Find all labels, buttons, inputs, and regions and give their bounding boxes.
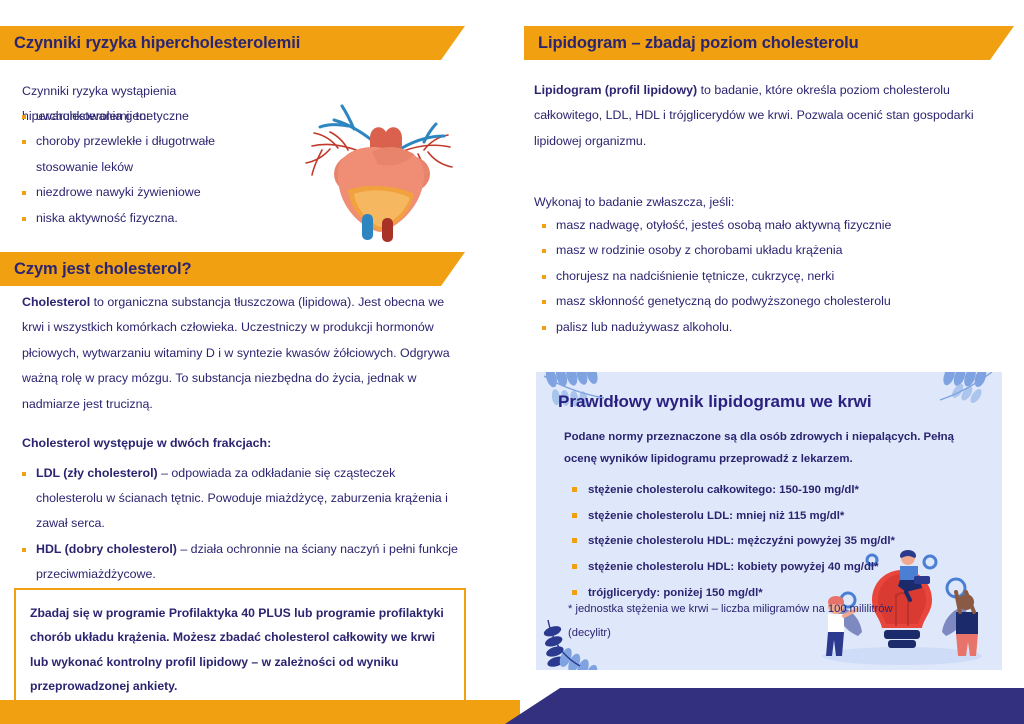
lipidogram-title: Lipidogram – zbadaj poziom cholesterolu [538, 34, 859, 53]
bottom-decorative-band [0, 688, 1024, 724]
norms-list: stężenie cholesterolu całkowitego: 150-1… [568, 478, 988, 606]
hdl-label: HDL (dobry cholesterol) [36, 542, 177, 556]
ldl-label: LDL (zły cholesterol) [36, 466, 158, 480]
cholesterol-definition-paragraph: Cholesterol to organiczna substancja tłu… [22, 290, 462, 417]
risk-factors-title: Czynniki ryzyka hipercholesterolemii [14, 34, 300, 53]
list-item: niska aktywność fizyczna. [14, 206, 276, 231]
risk-factors-list: uwarunkowania genetyczne choroby przewle… [14, 104, 276, 231]
cholesterol-definition-text: to organiczna substancja tłuszczowa (lip… [22, 295, 450, 411]
left-column: Czynniki ryzyka hipercholesterolemii Czy… [0, 0, 500, 700]
list-item: masz w rodzinie osoby z chorobami układu… [534, 238, 1014, 263]
results-panel-title: Prawidłowy wynik lipidogramu we krwi [558, 392, 872, 412]
what-is-cholesterol-title: Czym jest cholesterol? [14, 260, 192, 279]
unit-footnote: * jednostka stężenia we krwi – liczba mi… [568, 598, 898, 645]
list-item: niezdrowe nawyki żywieniowe [14, 180, 276, 205]
band-orange-segment [0, 700, 520, 724]
infographic-page: Czynniki ryzyka hipercholesterolemii Czy… [0, 0, 1024, 724]
list-item: masz skłonność genetyczną do podwyższone… [534, 289, 1014, 314]
fractions-list: LDL (zły cholesterol) – odpowiada za odk… [14, 461, 462, 588]
lipidogram-intro-paragraph: Lipidogram (profil lipidowy) to badanie,… [534, 78, 1004, 154]
normal-results-panel: Prawidłowy wynik lipidogramu we krwi Pod… [536, 372, 1002, 670]
lipidogram-banner: Lipidogram – zbadaj poziom cholesterolu [524, 26, 1014, 60]
list-item: masz nadwagę, otyłość, jesteś osobą mało… [534, 213, 1014, 238]
list-item: palisz lub nadużywasz alkoholu. [534, 315, 1014, 340]
list-item: choroby przewlekłe i długotrwałe stosowa… [14, 129, 276, 180]
fern-leaf-decoration-top-right [896, 372, 1002, 430]
list-item-hdl: HDL (dobry cholesterol) – działa ochronn… [14, 537, 462, 588]
list-item: stężenie cholesterolu HDL: mężczyźni pow… [568, 529, 988, 555]
what-is-cholesterol-banner: Czym jest cholesterol? [0, 252, 465, 286]
lipidogram-term: Lipidogram (profil lipidowy) [534, 83, 697, 97]
when-to-test-intro: Wykonaj to badanie zwłaszcza, jeśli: [534, 190, 1004, 215]
results-panel-note: Podane normy przeznaczone są dla osób zd… [564, 426, 978, 470]
list-item: uwarunkowania genetyczne [14, 104, 276, 129]
what-is-cholesterol-body: Cholesterol to organiczna substancja tłu… [22, 290, 462, 588]
heart-illustration [278, 102, 476, 242]
risk-factors-banner: Czynniki ryzyka hipercholesterolemii [0, 26, 465, 60]
list-item-ldl: LDL (zły cholesterol) – odpowiada za odk… [14, 461, 462, 537]
list-item: stężenie cholesterolu HDL: kobiety powyż… [568, 555, 988, 581]
list-item: chorujesz na nadciśnienie tętnicze, cukr… [534, 264, 1014, 289]
fractions-heading: Cholesterol występuje w dwóch frakcjach: [22, 431, 462, 456]
cholesterol-term: Cholesterol [22, 295, 90, 309]
list-item: stężenie cholesterolu całkowitego: 150-1… [568, 478, 988, 504]
when-to-test-list: masz nadwagę, otyłość, jesteś osobą mało… [534, 213, 1014, 340]
list-item: stężenie cholesterolu LDL: mniej niż 115… [568, 504, 988, 530]
